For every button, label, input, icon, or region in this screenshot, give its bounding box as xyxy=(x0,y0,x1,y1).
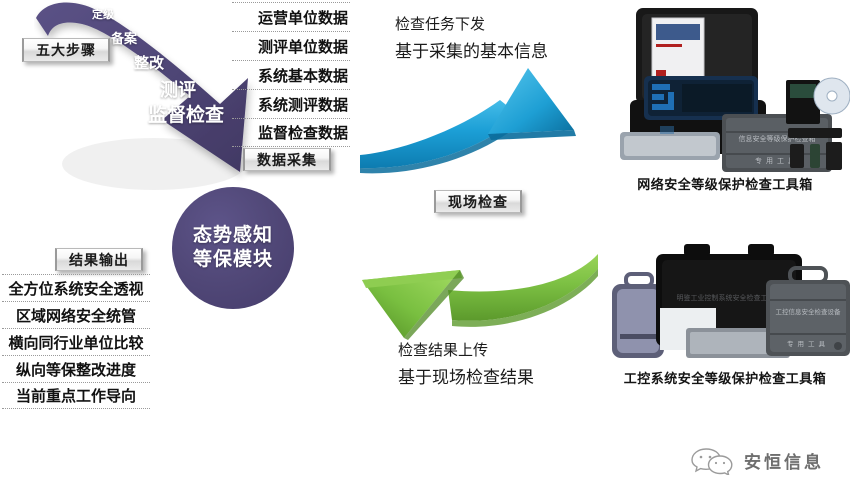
svg-text:明鉴工业控制系统安全检查工具箱: 明鉴工业控制系统安全检查工具箱 xyxy=(677,293,782,302)
svg-text:工控信息安全检查设备: 工控信息安全检查设备 xyxy=(776,307,842,316)
list-item: 系统基本数据 xyxy=(232,60,350,89)
data-collection-plaque[interactable]: 数据采集 xyxy=(243,148,331,171)
toolkit-photo-network: 信息安全等级保护检查箱 专用工具 xyxy=(600,4,850,172)
task-dispatch-caption: 检查任务下发 基于采集的基本信息 xyxy=(395,12,548,66)
circle-line-2: 等保模块 xyxy=(193,248,273,272)
caption-line-1: 检查任务下发 xyxy=(395,12,548,38)
caption-line-1: 检查结果上传 xyxy=(398,338,534,364)
diagram-canvas: 定级 备案 整改 测评 监督检查 五大步骤 运营单位数据 测评单位数据 系统基本… xyxy=(0,0,864,494)
list-item: 区域网络安全统管 xyxy=(2,301,150,328)
caption-line-2: 基于采集的基本信息 xyxy=(395,38,548,66)
result-output-list: 全方位系统安全透视 区域网络安全统管 横向同行业单位比较 纵向等保整改进度 当前… xyxy=(2,274,150,409)
toolkit-caption-ics: 工控系统安全等级保护检查工具箱 xyxy=(598,368,852,387)
list-item: 横向同行业单位比较 xyxy=(2,328,150,355)
caption-line-2: 基于现场检查结果 xyxy=(398,364,534,392)
list-item: 当前重点工作导向 xyxy=(2,382,150,409)
step-label-3: 测评 xyxy=(160,76,196,102)
list-item: 纵向等保整改进度 xyxy=(2,355,150,382)
onsite-inspection-plaque[interactable]: 现场检查 xyxy=(434,190,522,213)
step-label-4: 监督检查 xyxy=(148,100,224,127)
list-item: 测评单位数据 xyxy=(232,31,350,60)
wechat-icon xyxy=(690,445,736,475)
list-item: 运营单位数据 xyxy=(232,2,350,31)
result-upload-arrow xyxy=(348,240,610,352)
result-upload-caption: 检查结果上传 基于现场检查结果 xyxy=(398,338,534,392)
list-item: 全方位系统安全透视 xyxy=(2,274,150,301)
result-output-plaque[interactable]: 结果输出 xyxy=(55,248,143,271)
toolkit-caption-network: 网络安全等级保护检查工具箱 xyxy=(600,174,850,193)
data-collection-list: 运营单位数据 测评单位数据 系统基本数据 系统测评数据 监督检查数据 xyxy=(232,2,350,147)
step-label-0: 定级 xyxy=(92,6,114,22)
step-label-1: 备案 xyxy=(111,28,137,47)
task-dispatch-arrow xyxy=(360,60,610,175)
brand-text: 安恒信息 xyxy=(744,448,824,473)
situational-awareness-module[interactable]: 态势感知 等保模块 xyxy=(172,187,294,309)
step-label-2: 整改 xyxy=(134,52,164,73)
list-item: 系统测评数据 xyxy=(232,89,350,118)
list-item: 监督检查数据 xyxy=(232,118,350,147)
circle-line-1: 态势感知 xyxy=(193,224,273,248)
footer-brand: 安恒信息 xyxy=(690,445,824,475)
toolkit-photo-ics: 明鉴工业控制系统安全检查工具箱 工控信息安全检查设备 专用工具 xyxy=(598,238,852,370)
svg-text:专用工具: 专用工具 xyxy=(787,339,829,348)
five-steps-plaque[interactable]: 五大步骤 xyxy=(22,38,110,62)
